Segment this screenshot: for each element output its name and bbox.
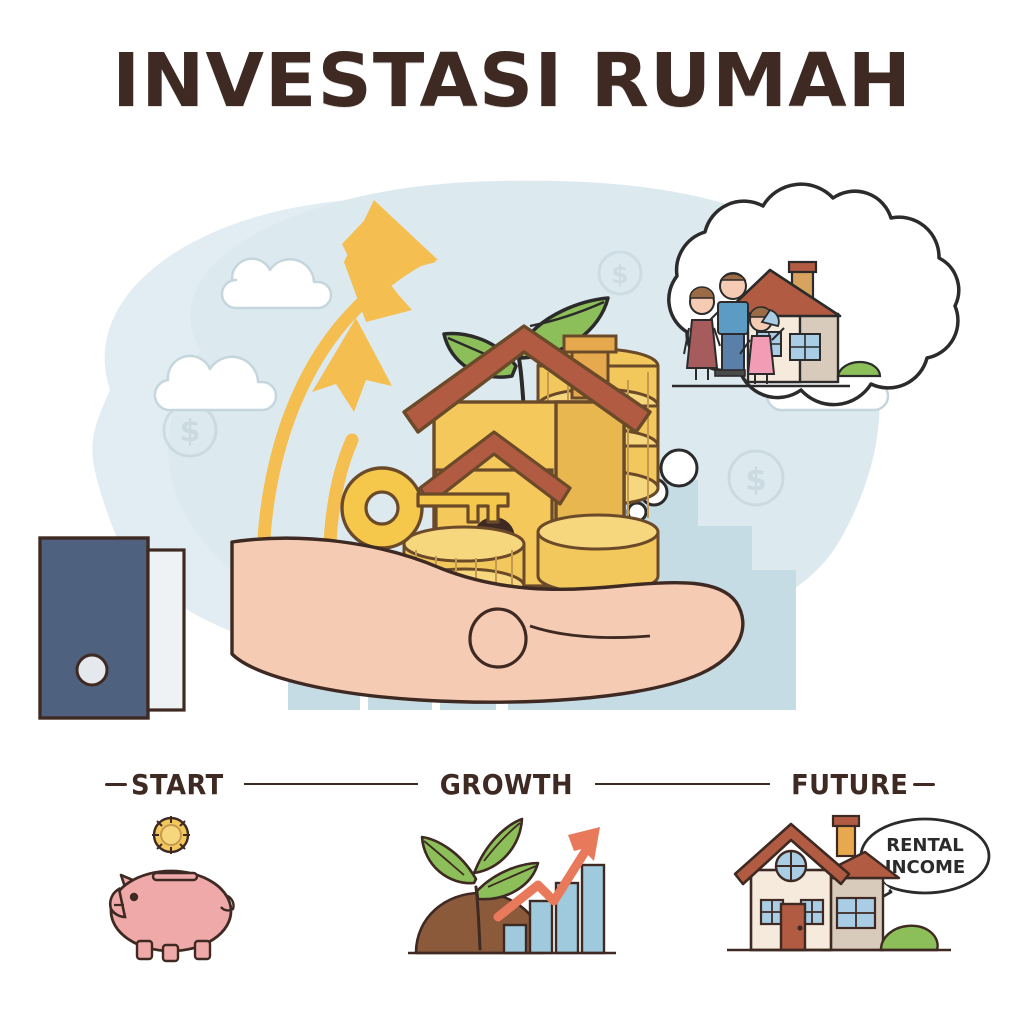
page-title: INVESTASI RUMAH bbox=[112, 44, 912, 118]
steps-icon-row: RENTAL INCOME bbox=[0, 808, 1024, 973]
svg-text:$: $ bbox=[745, 462, 767, 498]
step-label-start: START bbox=[131, 768, 224, 801]
left-dash-divider bbox=[105, 783, 127, 786]
steps-label-row: START GROWTH FUTURE bbox=[105, 762, 935, 806]
step-icon-start bbox=[0, 808, 341, 973]
speech-line-1: RENTAL bbox=[887, 835, 965, 856]
svg-text:$: $ bbox=[611, 260, 628, 289]
step-icon-growth bbox=[341, 808, 682, 973]
coin-icon bbox=[152, 816, 190, 854]
step-label-future: FUTURE bbox=[791, 768, 908, 801]
growth-chart-icon bbox=[402, 813, 622, 973]
right-dash-divider bbox=[913, 783, 935, 786]
piggy-bank-icon bbox=[71, 813, 271, 973]
step-connector-2 bbox=[595, 783, 770, 785]
svg-text:$: $ bbox=[180, 414, 201, 449]
house-icon: RENTAL INCOME bbox=[713, 808, 993, 973]
hero-illustration: $ $ $ bbox=[0, 140, 1024, 760]
step-connector-1 bbox=[244, 783, 419, 785]
step-icon-future: RENTAL INCOME bbox=[683, 808, 1024, 973]
step-label-growth: GROWTH bbox=[440, 768, 573, 801]
title-area: INVESTASI RUMAH bbox=[0, 44, 1024, 118]
poster-canvas: INVESTASI RUMAH bbox=[0, 0, 1024, 1024]
